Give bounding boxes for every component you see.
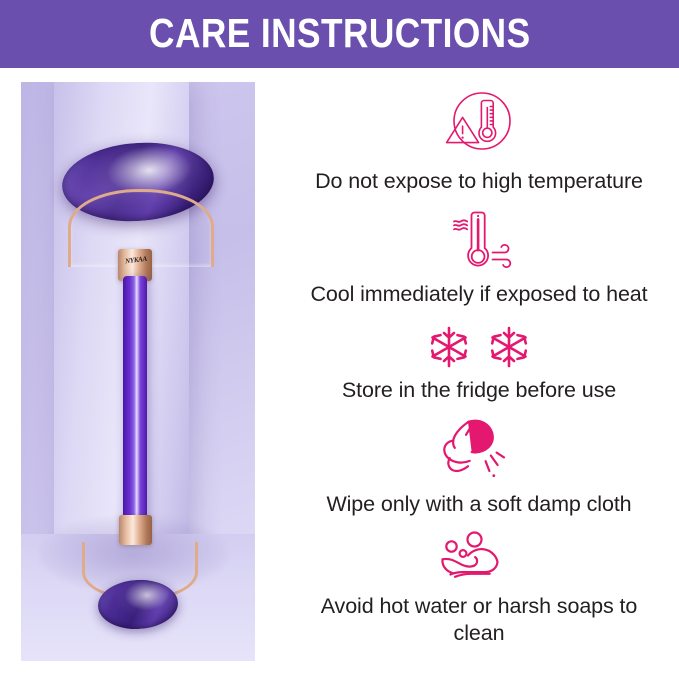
instruction-item: Store in the fridge before use — [279, 324, 679, 404]
page-title: CARE INSTRUCTIONS — [149, 13, 530, 54]
care-instructions-page: CARE INSTRUCTIONS NYKAA — [0, 0, 679, 679]
rose-gold-collar-bottom — [119, 515, 152, 545]
roller-handle — [123, 276, 148, 519]
instruction-item: Cool immediately if exposed to heat — [279, 209, 679, 308]
instruction-item: Do not expose to high temperature — [279, 88, 679, 195]
thermometer-warning-icon — [440, 88, 518, 160]
product-photo: NYKAA — [21, 82, 255, 661]
face-roller-product: NYKAA — [21, 82, 255, 661]
instruction-text: Wipe only with a soft damp cloth — [326, 491, 631, 518]
instruction-text: Do not expose to high temperature — [315, 168, 643, 195]
instruction-item: Wipe only with a soft damp cloth — [279, 419, 679, 518]
instruction-text: Avoid hot water or harsh soaps to clean — [309, 593, 649, 647]
instruction-item: Avoid hot water or harsh soaps to clean — [279, 531, 679, 647]
hand-wiping-cloth-icon — [438, 419, 520, 483]
instruction-text: Cool immediately if exposed to heat — [310, 281, 647, 308]
hand-soap-bubbles-icon — [433, 531, 525, 587]
instruction-text: Store in the fridge before use — [342, 377, 616, 404]
snowflakes-icon — [419, 324, 539, 370]
thermometer-cooling-icon — [436, 209, 522, 275]
header-banner: CARE INSTRUCTIONS — [0, 0, 679, 68]
instructions-list: Do not expose to high temperature Cool i… — [279, 82, 679, 674]
